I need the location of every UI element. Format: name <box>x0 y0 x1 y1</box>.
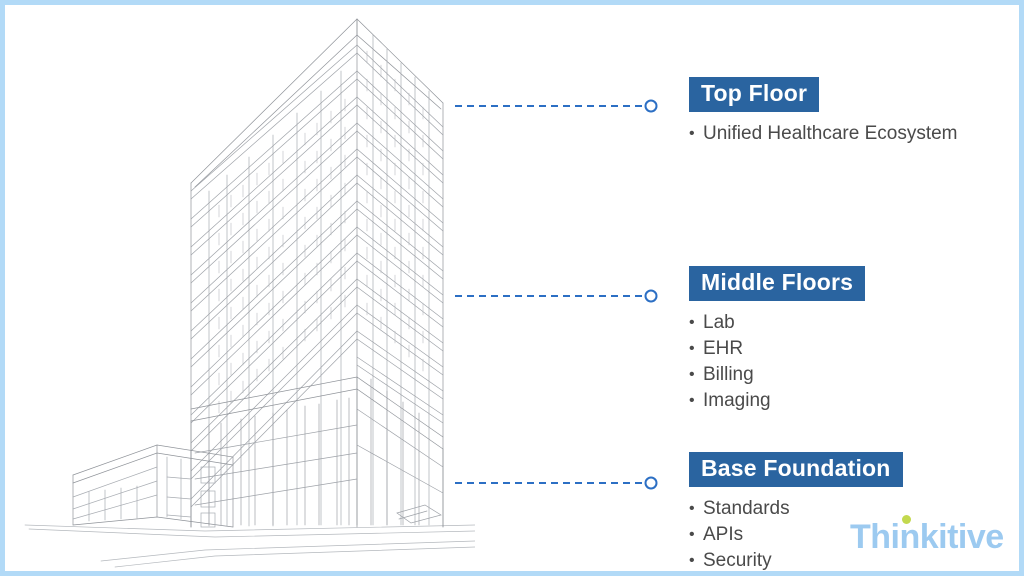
endpoint-circle-icon <box>646 101 657 112</box>
callout-title-top-floor: Top Floor <box>689 77 819 112</box>
list-item: Unified Healthcare Ecosystem <box>689 121 958 147</box>
bullet-list-top-floor: Unified Healthcare Ecosystem <box>689 121 958 147</box>
building-illustration <box>5 5 475 571</box>
tower-left-floor-slabs <box>191 45 357 507</box>
endpoint-circle-icon <box>646 478 657 489</box>
podium-right-glazing <box>357 379 443 525</box>
tower-right-floor-slabs <box>357 45 443 423</box>
connector-middle-floors <box>452 286 662 306</box>
connector-top-floor <box>452 96 662 116</box>
callout-middle-floors: Middle Floors Lab EHR Billing Imaging <box>689 266 865 414</box>
tower-podium <box>191 377 443 527</box>
callout-title-middle-floors: Middle Floors <box>689 266 865 301</box>
podium-left-glazing <box>195 398 357 525</box>
logo-wordmark: Thinkitive <box>850 518 1004 556</box>
list-item: Imaging <box>689 388 865 414</box>
list-item: Billing <box>689 362 865 388</box>
endpoint-circle-icon <box>646 291 657 302</box>
callout-top-floor: Top Floor Unified Healthcare Ecosystem <box>689 77 958 147</box>
callout-title-base-foundation: Base Foundation <box>689 452 903 487</box>
bullet-list-middle-floors: Lab EHR Billing Imaging <box>689 310 865 414</box>
connector-base-foundation <box>452 473 662 493</box>
list-item: Lab <box>689 310 865 336</box>
tower-right-windows <box>367 51 423 371</box>
thinkitive-logo: Thinkitive <box>850 520 1004 554</box>
list-item: EHR <box>689 336 865 362</box>
ground-lines <box>25 525 475 567</box>
tower-left-facade-mullions <box>209 71 341 526</box>
logo-dot-icon <box>902 515 911 524</box>
slide-canvas: Top Floor Unified Healthcare Ecosystem M… <box>0 0 1024 576</box>
